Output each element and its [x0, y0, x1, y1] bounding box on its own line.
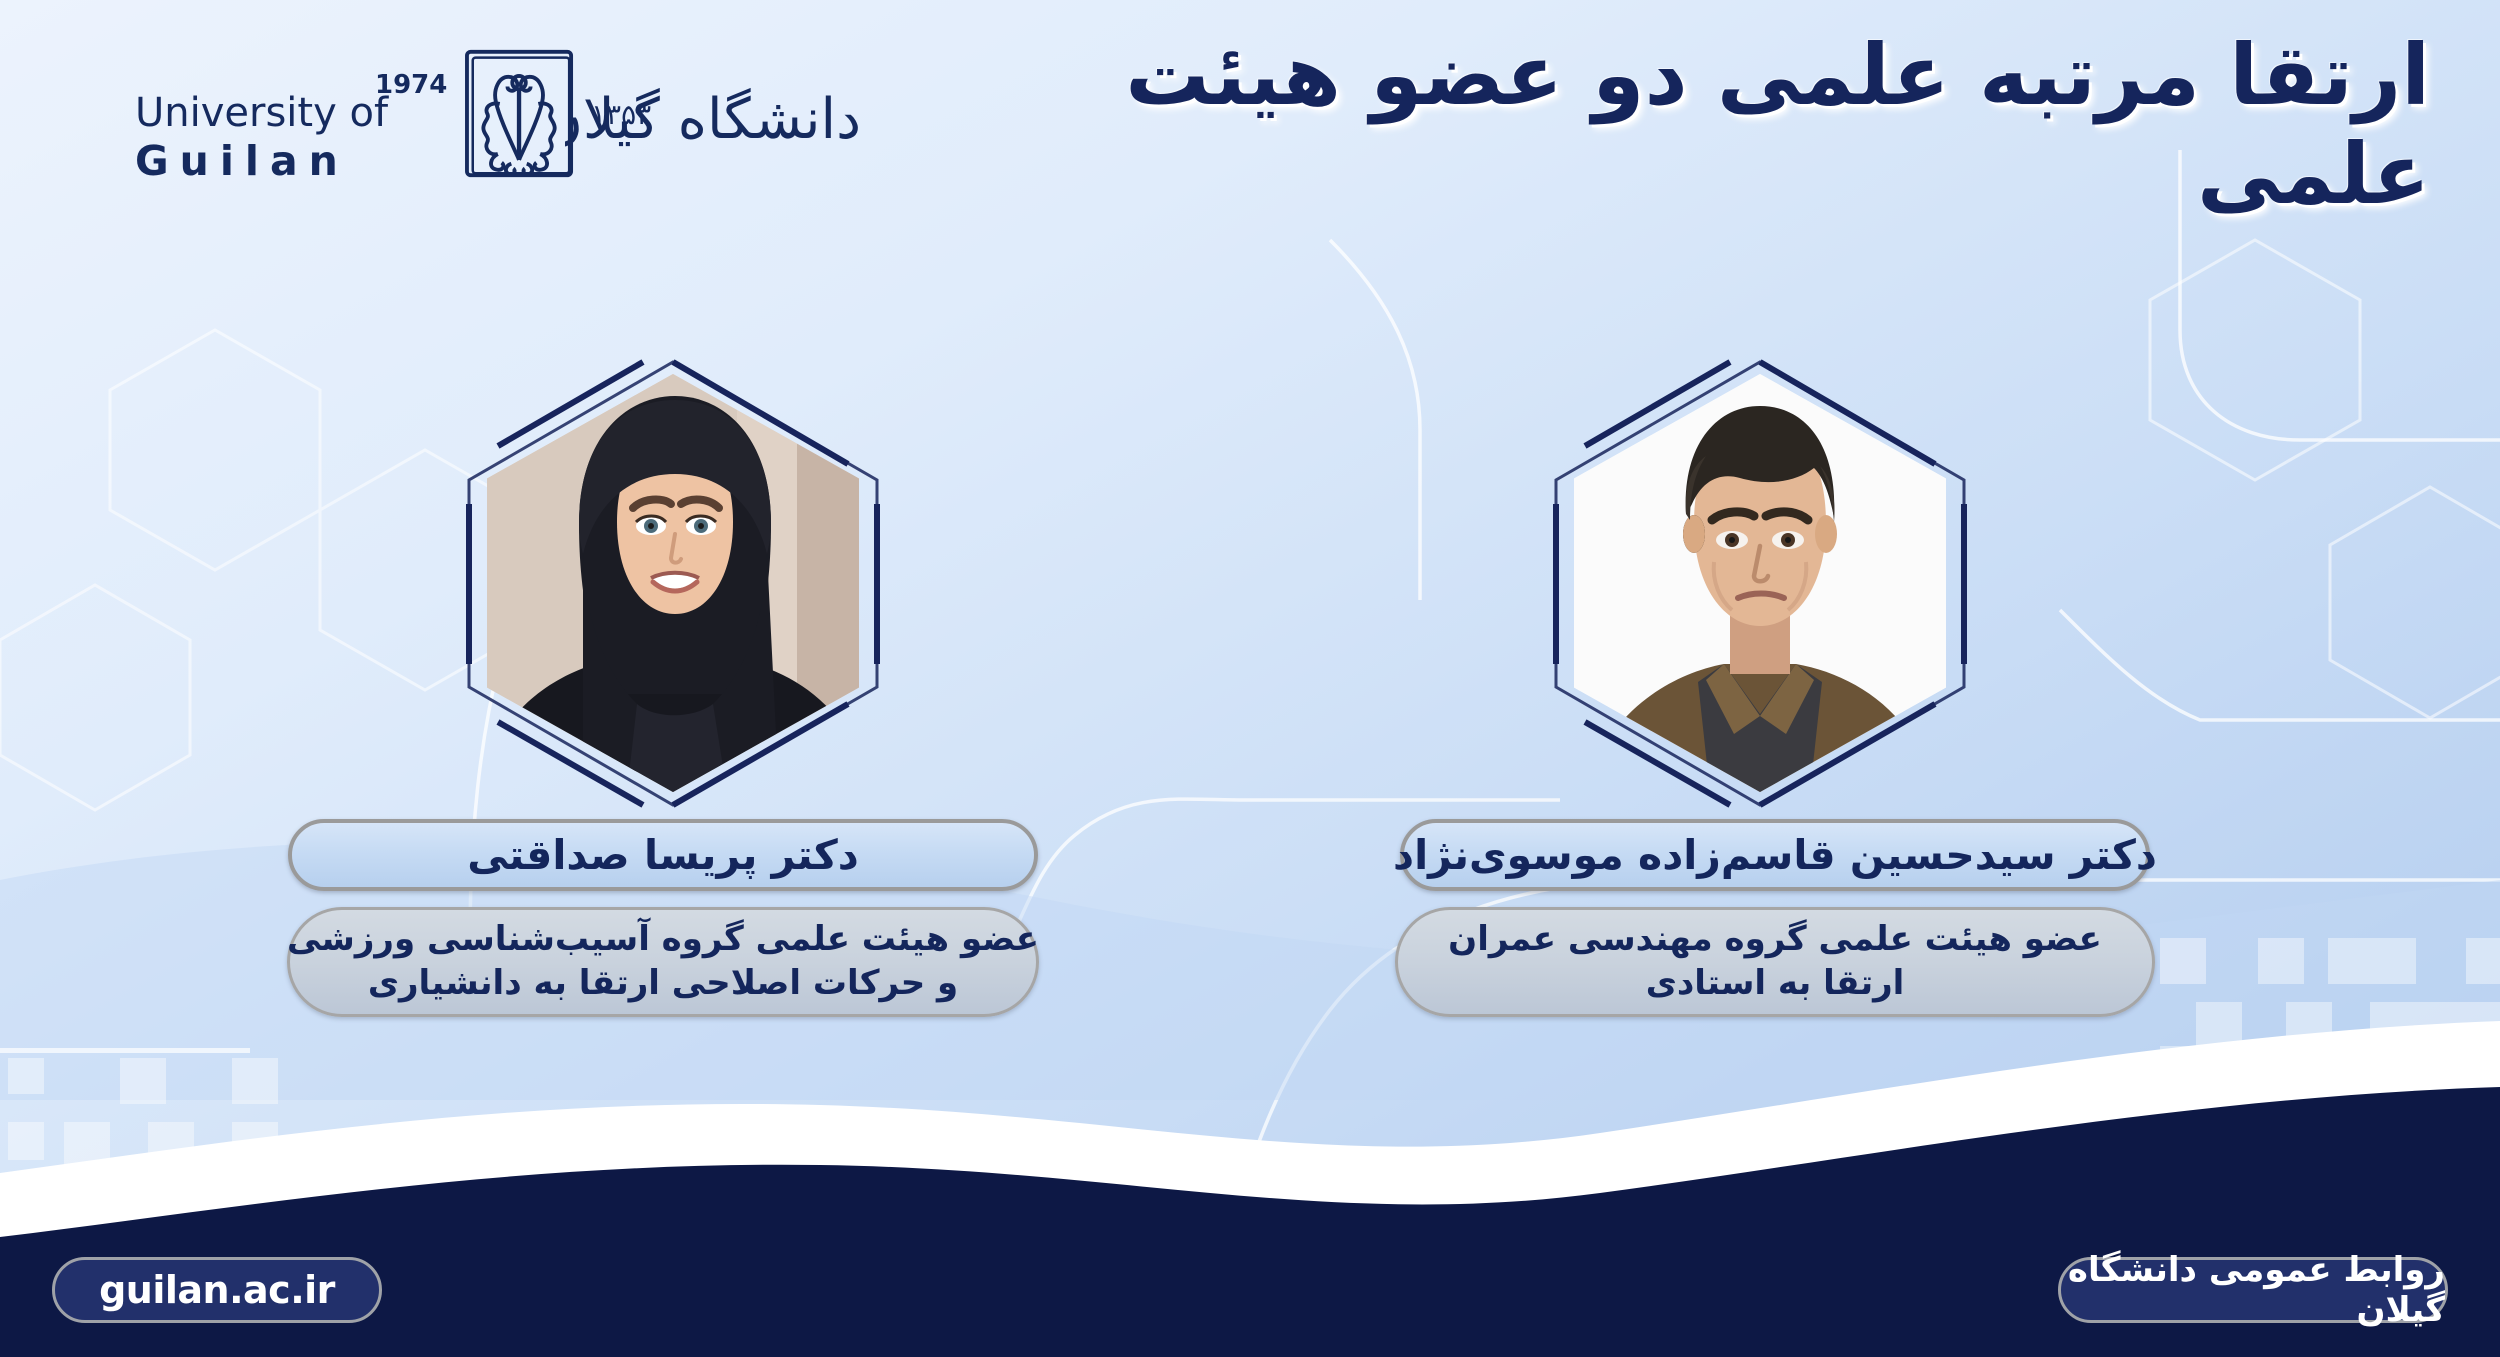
logo-english-name: University of Guilan	[135, 93, 465, 185]
avatar-hexagon-left	[463, 356, 883, 811]
logo-persian-name-text: دانشگاه گیلان	[565, 87, 861, 152]
university-logo: 1974 University of Guilan	[95, 38, 775, 168]
avatar-hexagon-right	[1550, 356, 1970, 811]
logo-english-line1: University of	[135, 93, 465, 133]
poster-canvas: 1974 University of Guilan	[0, 0, 2500, 1357]
avatar-frame-left	[463, 356, 883, 811]
person-card-left: دکتر پریسا صداقتی عضو هیئت علمی گروه آسی…	[283, 356, 1043, 1017]
person-name-right: دکتر سیدحسین قاسم‌زاده موسوی‌نژاد	[1400, 819, 2150, 891]
person-card-right: دکتر سیدحسین قاسم‌زاده موسوی‌نژاد عضو هی…	[1395, 356, 2155, 1017]
person-name-left: دکتر پریسا صداقتی	[288, 819, 1038, 891]
footer-website-pill[interactable]: guilan.ac.ir	[52, 1257, 382, 1323]
footer-public-relations-pill: روابط عمومی دانشگاه گیلان	[2058, 1257, 2448, 1323]
logo-english-line2: Guilan	[135, 137, 465, 185]
page-title: ارتقا مرتبه علمی دو عضو هیئت علمی	[1030, 26, 2430, 224]
logo-persian-name: دانشگاه گیلان	[565, 38, 865, 178]
avatar-frame-right	[1550, 356, 1970, 811]
